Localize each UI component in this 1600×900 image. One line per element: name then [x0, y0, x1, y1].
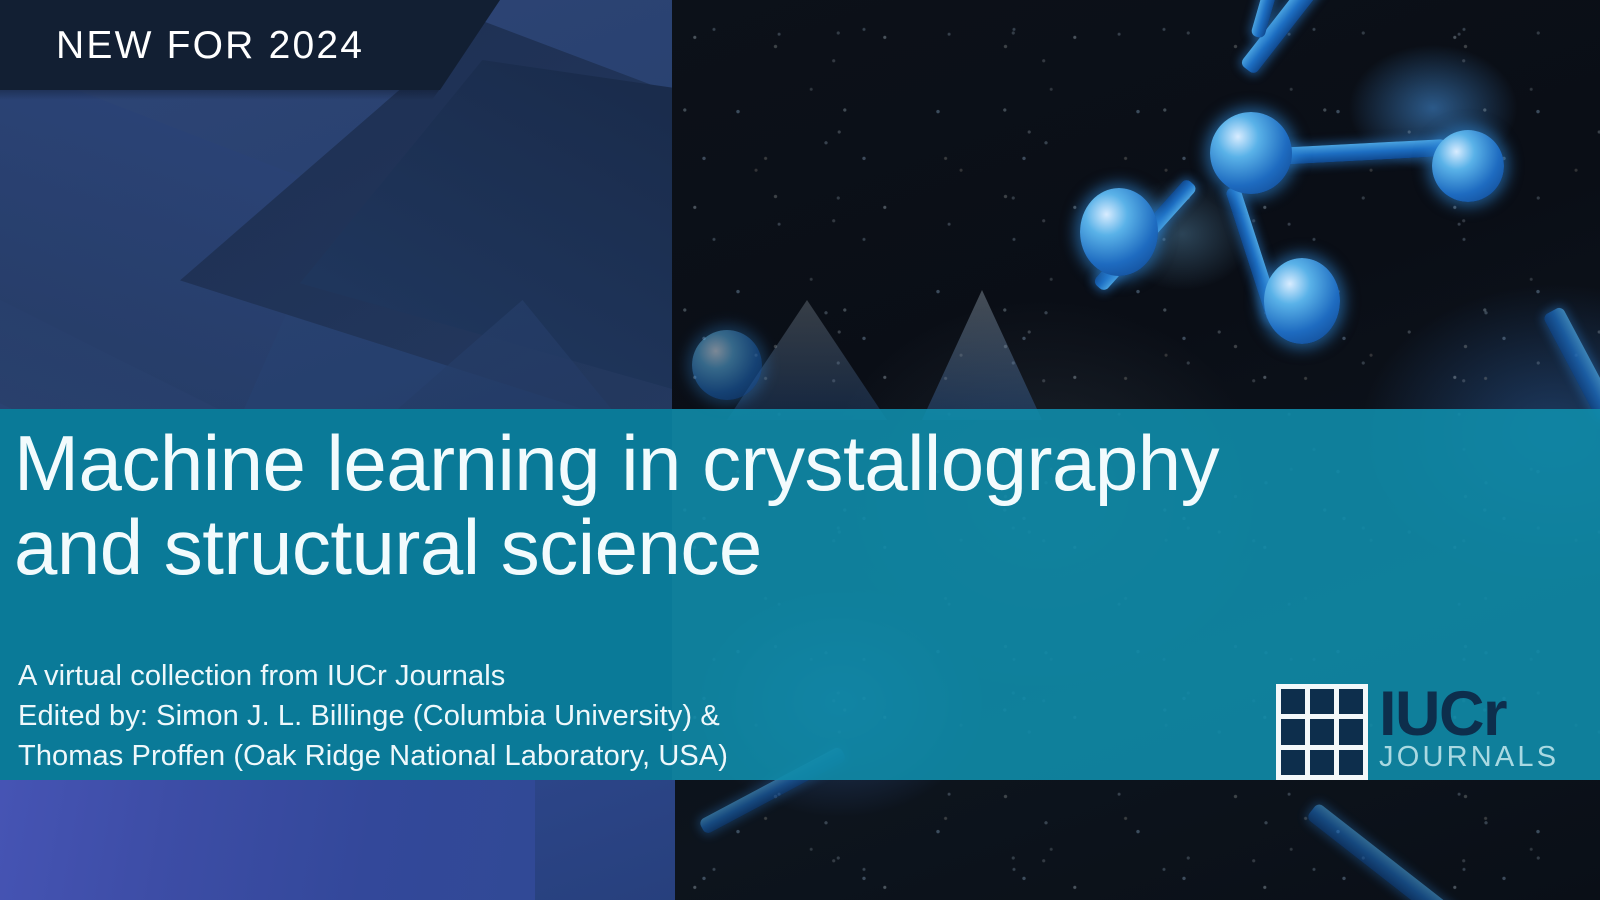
- bottom-gradient-facet: [535, 780, 675, 900]
- page-title-line-2: and structural science: [14, 505, 1434, 589]
- molecule-node: [1210, 112, 1292, 194]
- logo-subword: JOURNALS: [1379, 742, 1559, 774]
- grid-cell: [1339, 689, 1363, 714]
- logo-wordmark-group: IUCr JOURNALS: [1379, 684, 1559, 774]
- subtitle-block: A virtual collection from IUCr Journals …: [18, 656, 728, 776]
- grid-cell: [1281, 750, 1305, 775]
- molecule-node: [1432, 130, 1504, 202]
- grid-cell: [1339, 719, 1363, 744]
- grid-cell: [1339, 750, 1363, 775]
- grid-cell: [1310, 750, 1334, 775]
- grid-cell: [1310, 719, 1334, 744]
- logo-wordmark: IUCr: [1379, 684, 1559, 744]
- molecule-node: [1264, 258, 1340, 344]
- ribbon-label: NEW FOR 2024: [56, 26, 364, 65]
- iucr-journals-logo: IUCr JOURNALS: [1276, 684, 1584, 788]
- molecule-node: [692, 330, 762, 400]
- subtitle-collection: A virtual collection from IUCr Journals: [18, 656, 728, 696]
- grid-cell: [1281, 719, 1305, 744]
- grid-cell: [1310, 689, 1334, 714]
- subtitle-editor-1: Edited by: Simon J. L. Billinge (Columbi…: [18, 696, 728, 736]
- new-for-2024-ribbon: NEW FOR 2024: [0, 0, 500, 90]
- molecule-node: [1080, 188, 1158, 276]
- page-title-line-1: Machine learning in crystallography: [14, 421, 1434, 505]
- iucr-grid-icon: [1276, 684, 1368, 780]
- subtitle-editor-2: Thomas Proffen (Oak Ridge National Labor…: [18, 736, 728, 776]
- promotional-banner: NEW FOR 2024 Machine learning in crystal…: [0, 0, 1600, 900]
- page-title: Machine learning in crystallography and …: [14, 421, 1434, 589]
- grid-cell: [1281, 689, 1305, 714]
